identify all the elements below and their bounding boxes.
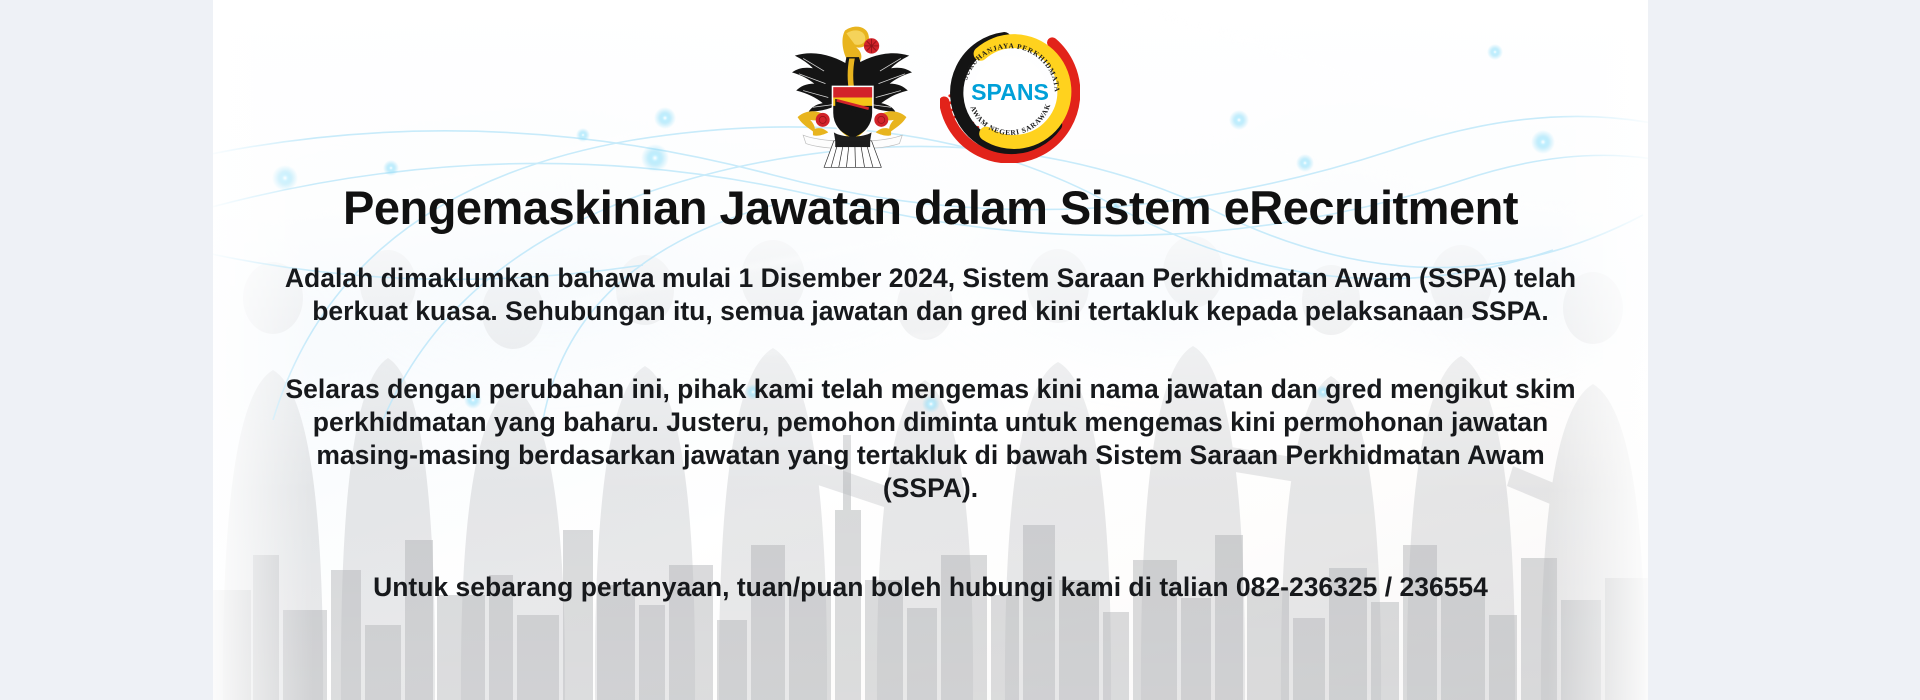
contact-line: Untuk sebarang pertanyaan, tuan/puan bol… [271,571,1591,604]
paragraph-line: berkuat kuasa. Sehubungan itu, semua jaw… [271,295,1591,328]
sarawak-coat-of-arms-icon [782,18,922,168]
paragraph-line: Selaras dengan perubahan ini, pihak kami… [271,373,1591,406]
spans-wordmark: SPANS [971,79,1049,105]
logo-row: SURUHANJAYA PERKHIDMATAN AWAM NEGERI SAR… [782,18,1080,168]
banner-content: SURUHANJAYA PERKHIDMATAN AWAM NEGERI SAR… [213,0,1648,700]
paragraph-line: masing-masing berdasarkan jawatan yang t… [271,439,1591,505]
paragraph-line: Adalah dimaklumkan bahawa mulai 1 Disemb… [271,262,1591,295]
paragraph-one: Adalah dimaklumkan bahawa mulai 1 Disemb… [271,262,1591,328]
paragraph-two: Selaras dengan perubahan ini, pihak kami… [271,373,1591,504]
announcement-banner: SURUHANJAYA PERKHIDMATAN AWAM NEGERI SAR… [213,0,1648,700]
spans-logo-icon: SURUHANJAYA PERKHIDMATAN AWAM NEGERI SAR… [940,23,1080,163]
contact-paragraph: Untuk sebarang pertanyaan, tuan/puan bol… [271,571,1591,604]
page-title: Pengemaskinian Jawatan dalam Sistem eRec… [343,182,1518,234]
page-root: SURUHANJAYA PERKHIDMATAN AWAM NEGERI SAR… [0,0,1920,700]
paragraph-line: perkhidmatan yang baharu. Justeru, pemoh… [271,406,1591,439]
